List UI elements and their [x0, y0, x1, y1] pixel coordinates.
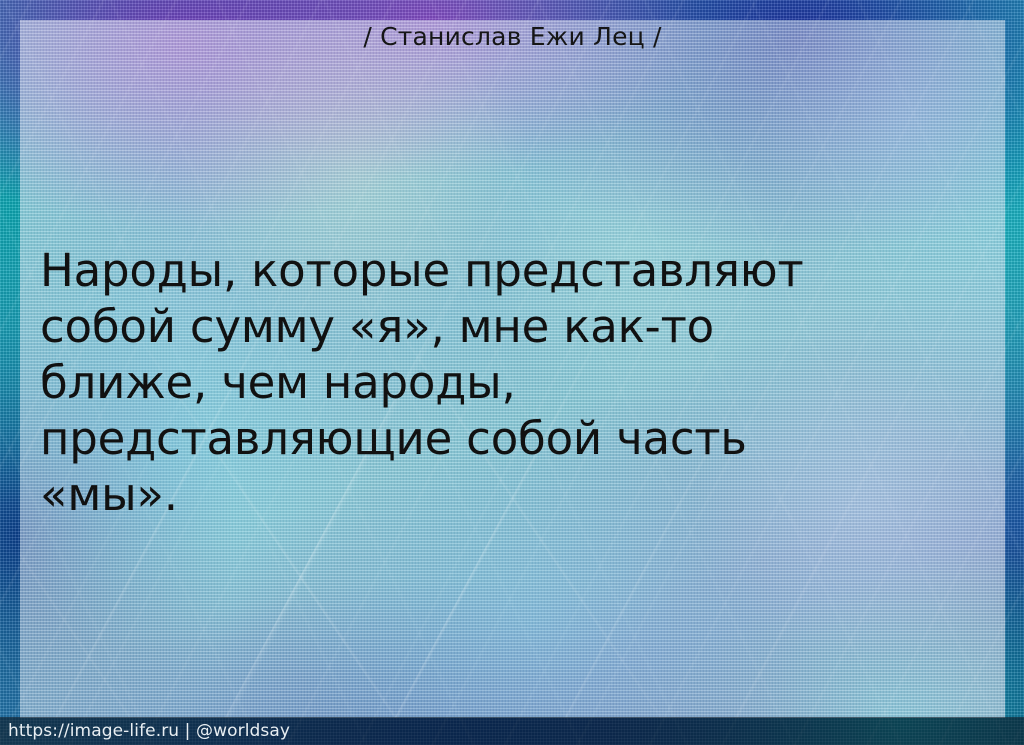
quote-line: собой сумму «я», мне как-то [40, 299, 920, 355]
quote-line: ближе, чем народы, [40, 355, 920, 411]
quote-line: Народы, которые представляют [40, 243, 920, 299]
quote-text-block: Народы, которые представляют собой сумму… [40, 243, 920, 523]
footer-bar: https://image-life.ru | @worldsay [0, 717, 1024, 745]
quote-line: «мы». [40, 467, 920, 523]
quote-line: представляющие собой часть [40, 411, 920, 467]
quote-card: / Станислав Ежи Лец / Народы, которые пр… [0, 0, 1024, 745]
footer-source-text: https://image-life.ru | @worldsay [0, 721, 290, 741]
author-attribution: / Станислав Ежи Лец / [20, 22, 1005, 52]
